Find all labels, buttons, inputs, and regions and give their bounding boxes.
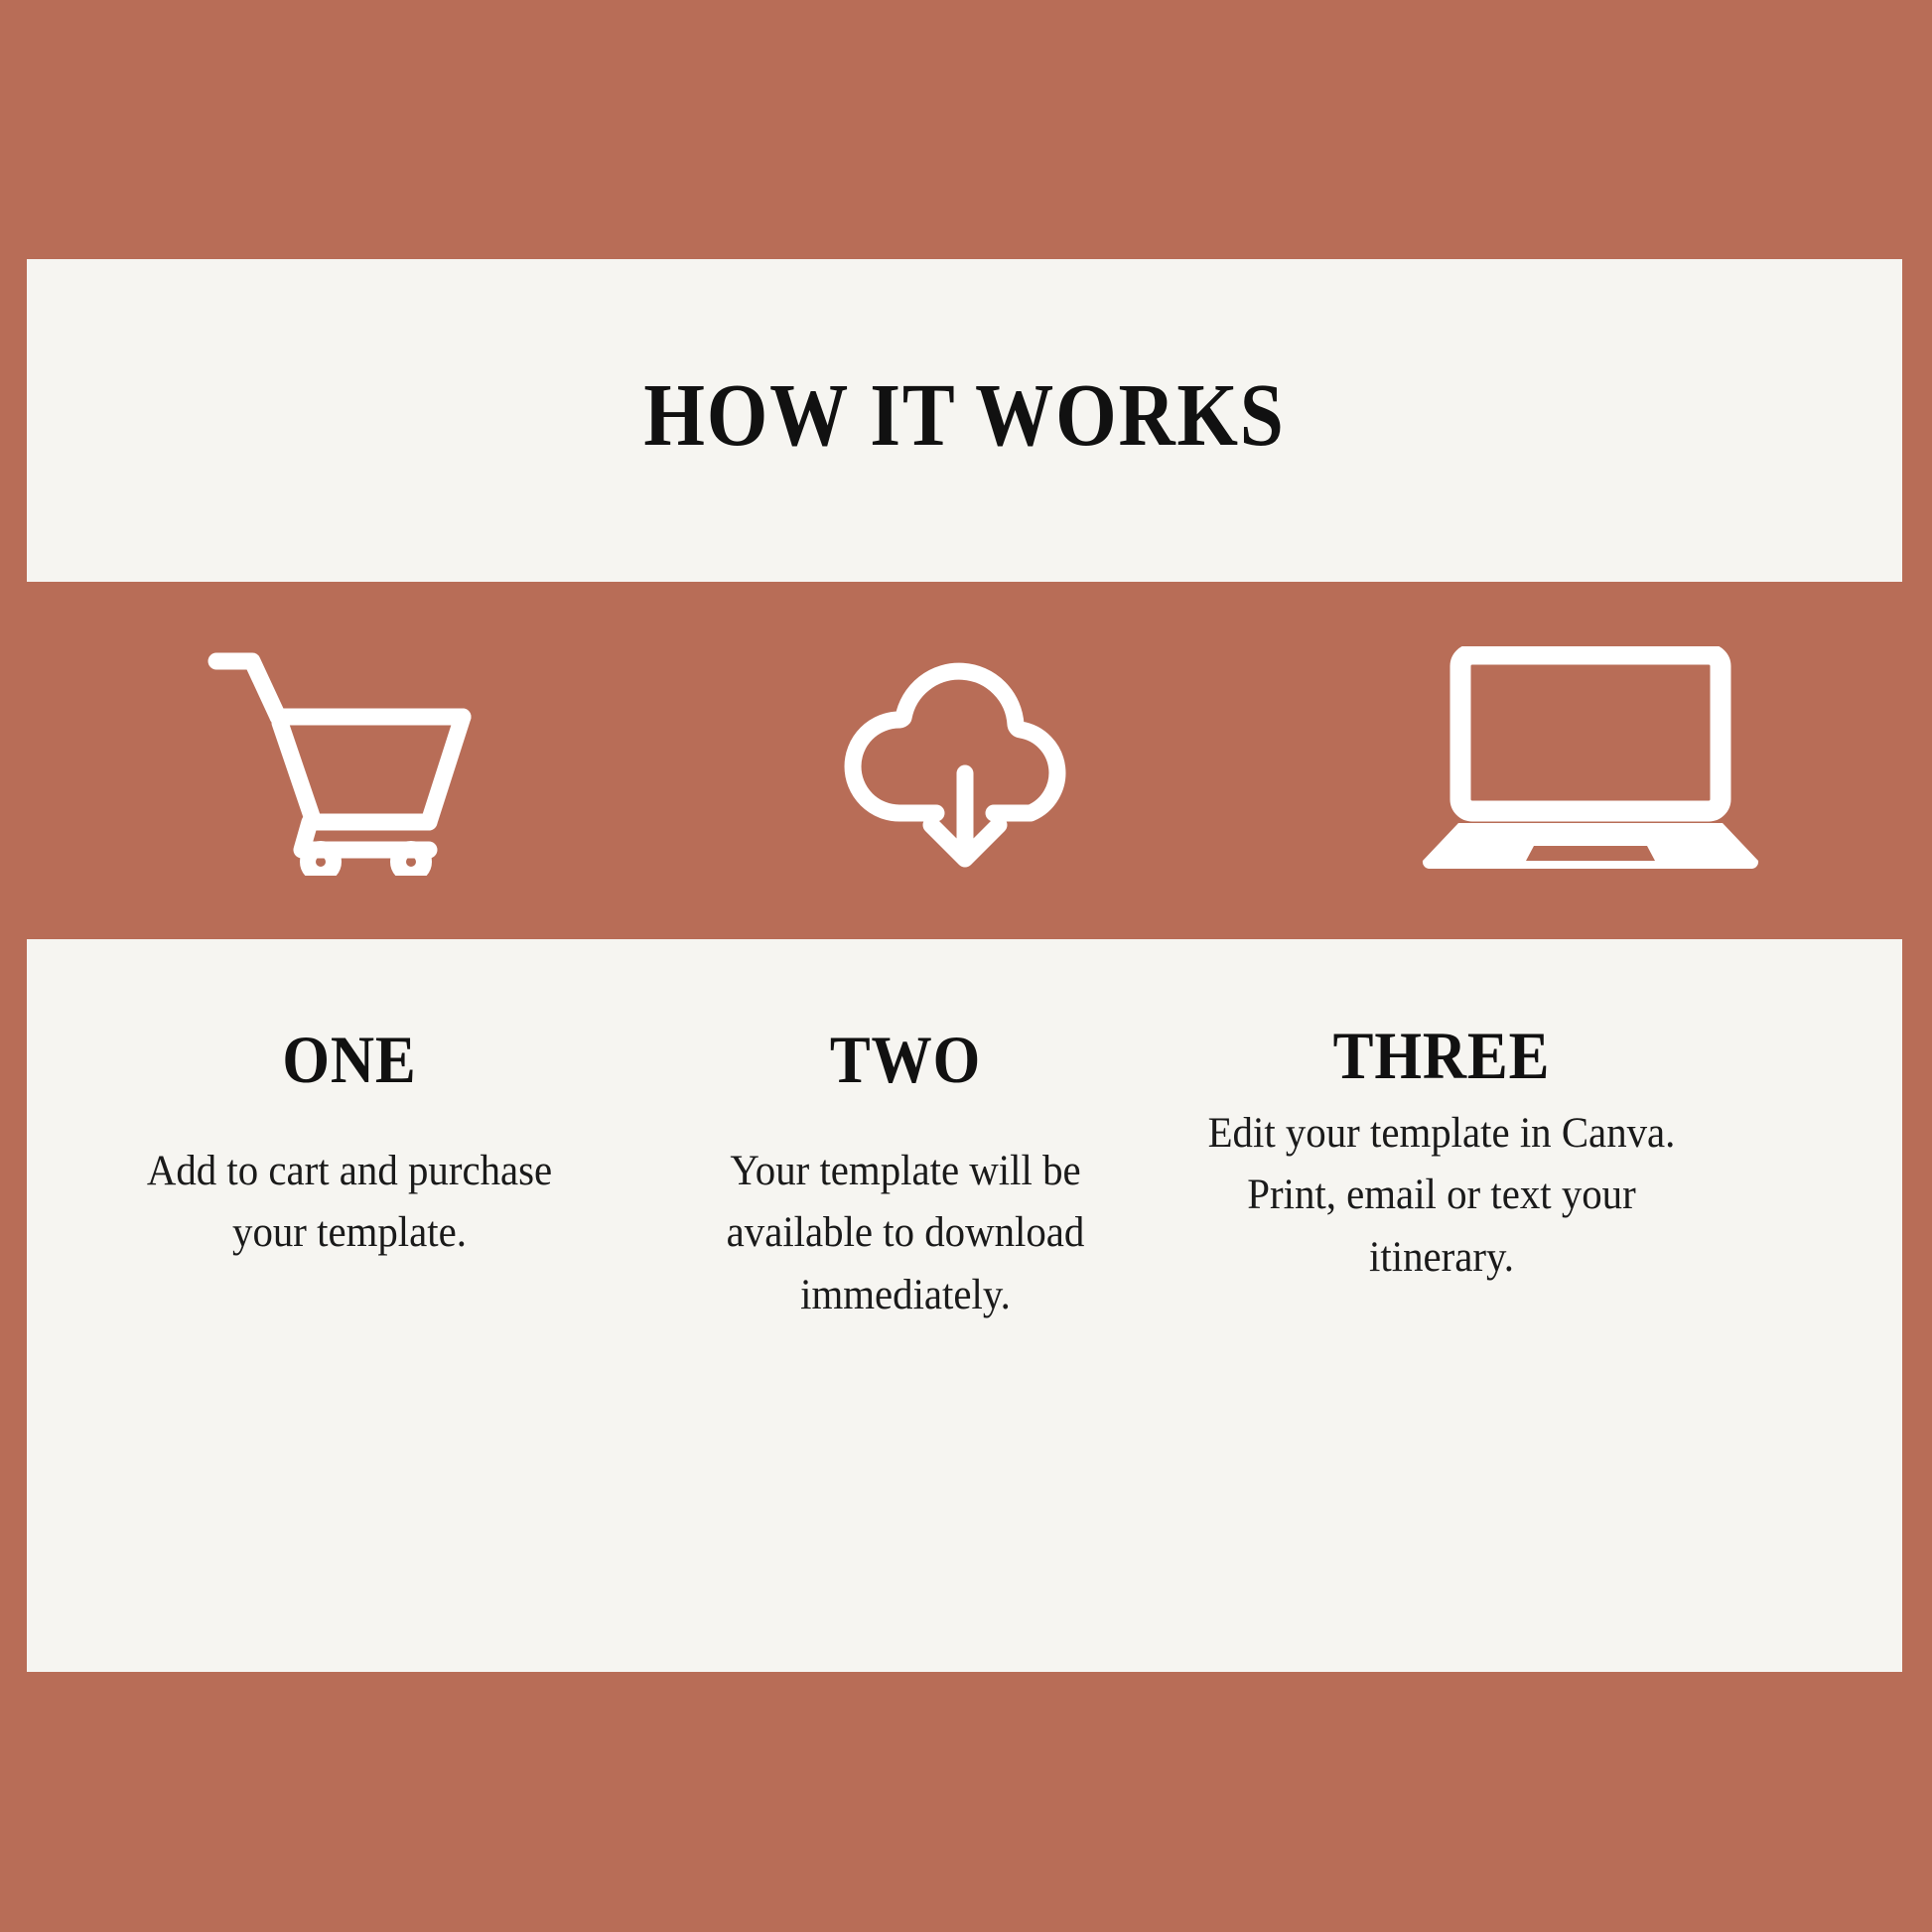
laptop-screen-icon	[1460, 654, 1721, 811]
step-heading-one: ONE	[113, 939, 587, 1093]
step-column-one: ONE Add to cart and purchase your templa…	[86, 939, 613, 1265]
shopping-cart-icon	[207, 645, 473, 876]
page-title: HOW IT WORKS	[139, 371, 1789, 461]
title-panel: HOW IT WORKS	[27, 259, 1902, 582]
icon-slot-three	[1278, 582, 1902, 939]
step-column-two: TWO Your template will be available to d…	[642, 939, 1169, 1326]
step-column-three: THREE Edit your template in Canva. Print…	[1178, 939, 1705, 1289]
step-heading-two: TWO	[669, 939, 1143, 1093]
step-heading-three: THREE	[1205, 939, 1679, 1089]
cart-wheel-left-icon	[308, 849, 334, 875]
icon-slot-two	[652, 582, 1278, 939]
cart-wheel-right-icon	[398, 849, 424, 875]
step-body-three: Edit your template in Canva. Print, emai…	[1191, 1089, 1692, 1289]
icon-band	[27, 582, 1902, 939]
icon-slot-one	[27, 582, 652, 939]
infographic-canvas: HOW IT WORKS	[0, 0, 1932, 1932]
step-body-one: Add to cart and purchase your template.	[99, 1093, 600, 1265]
laptop-base-icon	[1422, 823, 1757, 869]
step-body-two: Your template will be available to downl…	[655, 1093, 1156, 1326]
steps-panel: ONE Add to cart and purchase your templa…	[27, 939, 1902, 1672]
cloud-download-icon	[842, 642, 1088, 879]
laptop-icon	[1417, 646, 1764, 875]
